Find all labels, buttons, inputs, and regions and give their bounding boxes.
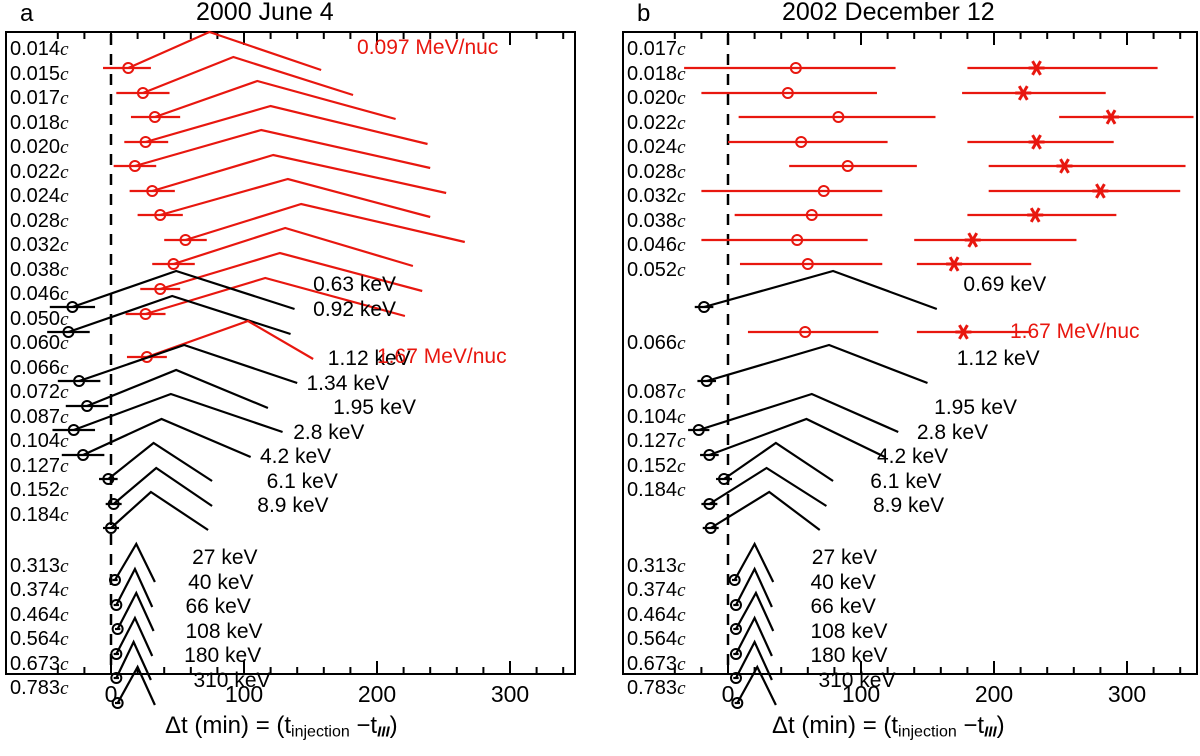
energy-label: 6.1 keV	[267, 470, 338, 493]
speed-label: 0.052c	[627, 259, 686, 281]
speed-label-unit: c	[60, 556, 69, 577]
energy-label: 27 keV	[192, 546, 257, 569]
energy-label: 66 keV	[810, 595, 875, 618]
speed-label: 0.038c	[627, 210, 686, 232]
speed-label-unit: c	[60, 654, 69, 675]
speed-label-unit: c	[677, 556, 686, 577]
profile-tent-line	[704, 271, 937, 309]
speed-label: 0.066c	[10, 357, 69, 379]
energy-label: 310 keV	[818, 669, 895, 692]
profile-tent-line	[737, 667, 776, 705]
speed-label-unit: c	[60, 186, 69, 207]
speed-label-unit: c	[677, 678, 686, 699]
speed-label: 0.017c	[627, 38, 686, 60]
axis-caption-suffix: )	[997, 712, 1005, 739]
energy-label: 1.95 keV	[934, 396, 1017, 419]
energy-label: 310 keV	[193, 669, 270, 692]
speed-label: 0.017c	[10, 87, 69, 109]
speed-label: 0.032c	[10, 234, 69, 256]
speed-label-unit: c	[60, 211, 69, 232]
speed-label-unit: c	[677, 235, 686, 256]
panel-b-axis-caption: Δt (min) = (tinjection −tIII)	[772, 712, 1005, 742]
panel-b-title: 2002 December 12	[782, 0, 995, 25]
panel-b: b 2002 December 12 01002003000.017c0.018…	[617, 0, 1200, 756]
speed-label: 0.313c	[10, 555, 69, 577]
speed-label-unit: c	[677, 64, 686, 85]
speed-label: 0.184c	[10, 504, 69, 526]
x-tick-label: 200	[975, 681, 1013, 707]
speed-label-unit: c	[60, 382, 69, 403]
speed-label: 0.087c	[10, 406, 69, 428]
speed-label-unit: c	[60, 235, 69, 256]
speed-label-unit: c	[60, 629, 69, 650]
profile-tent-line	[116, 569, 152, 607]
energy-label: 2.8 keV	[293, 421, 364, 444]
profile-tent-line	[736, 618, 772, 656]
speed-label-unit: c	[677, 39, 686, 60]
speed-label: 0.783c	[627, 677, 686, 699]
speed-label-unit: c	[60, 284, 69, 305]
speed-label: 0.014c	[10, 38, 69, 60]
panel-a-letter: a	[20, 2, 33, 26]
speed-label: 0.104c	[10, 430, 69, 452]
speed-label-unit: c	[677, 333, 686, 354]
speed-label: 0.673c	[10, 653, 69, 675]
x-tick-label: 300	[491, 681, 529, 707]
profile-tent-line	[147, 321, 313, 359]
profile-tent-line	[111, 492, 208, 530]
panel-b-plot: 01002003000.017c0.018c0.020c0.022c0.024c…	[617, 26, 1200, 726]
speed-label-unit: c	[60, 407, 69, 428]
speed-label: 0.564c	[627, 628, 686, 650]
speed-label: 0.152c	[627, 455, 686, 477]
speed-label-unit: c	[60, 431, 69, 452]
speed-label: 0.374c	[10, 579, 69, 601]
profile-tent-line	[128, 32, 321, 70]
speed-label-unit: c	[60, 605, 69, 626]
speed-label: 0.087c	[627, 381, 686, 403]
speed-label: 0.028c	[627, 161, 686, 183]
data-row	[748, 325, 1031, 339]
speed-label-unit: c	[60, 39, 69, 60]
speed-label: 0.313c	[627, 555, 686, 577]
speed-label: 0.046c	[627, 234, 686, 256]
energy-label: 4.2 keV	[260, 445, 331, 468]
data-row: 0.024c	[10, 179, 430, 220]
speed-label: 0.673c	[627, 653, 686, 675]
profile-tent-line	[87, 370, 268, 408]
profile-tent-line	[160, 179, 430, 217]
profile-tent-line	[108, 443, 212, 481]
energy-label: 40 keV	[810, 571, 875, 594]
mev-annotation: 1.67 MeV/nuc	[377, 345, 507, 368]
axis-caption-prefix: Δt (min) = (t	[772, 712, 898, 739]
profile-tent-line	[68, 296, 290, 334]
speed-label: 0.464c	[10, 604, 69, 626]
speed-label-unit: c	[60, 137, 69, 158]
profile-tent-line	[116, 618, 152, 656]
speed-label: 0.018c	[627, 63, 686, 85]
energy-label: 4.2 keV	[877, 445, 948, 468]
x-tick-label: 300	[1108, 681, 1146, 707]
energy-label: 1.34 keV	[307, 372, 390, 395]
speed-label: 0.104c	[627, 406, 686, 428]
speed-label: 0.127c	[627, 430, 686, 452]
energy-label: 1.12 keV	[957, 347, 1040, 370]
panel-a: a 2000 June 4 01002003000.014c0.015c0.01…	[0, 0, 600, 756]
plot-frame	[623, 32, 1197, 674]
speed-label-unit: c	[677, 113, 686, 134]
profile-tent-line	[146, 106, 428, 144]
axis-caption-sub2: III	[377, 723, 390, 740]
energy-label: 27 keV	[812, 546, 877, 569]
speed-label: 0.015c	[10, 63, 69, 85]
profile-tent-line	[185, 204, 464, 242]
data-row: 0.017c	[627, 38, 1158, 75]
axis-caption-sub1: injection	[898, 724, 957, 741]
speed-label: 0.038c	[10, 259, 69, 281]
speed-label: 0.152c	[10, 479, 69, 501]
speed-label-unit: c	[60, 162, 69, 183]
energy-label: 6.1 keV	[870, 470, 941, 493]
speed-label: 0.020c	[627, 87, 686, 109]
speed-label: 0.783c	[10, 677, 69, 699]
energy-label: 180 keV	[810, 644, 887, 667]
axis-caption-mid: −t	[350, 712, 377, 739]
speed-label: 0.024c	[10, 185, 69, 207]
energy-label: 0.92 keV	[313, 298, 396, 321]
speed-label: 0.046c	[10, 283, 69, 305]
profile-tent-line	[115, 544, 155, 582]
axis-caption-sub2: III	[984, 723, 997, 740]
speed-label: 0.072c	[10, 381, 69, 403]
speed-label-unit: c	[60, 580, 69, 601]
speed-label: 0.060c	[10, 332, 69, 354]
profile-tent-line	[143, 57, 353, 95]
speed-label: 0.464c	[627, 604, 686, 626]
speed-label-unit: c	[677, 654, 686, 675]
data-row: 0.066c1.12 keV	[627, 332, 1040, 386]
profile-tent-line	[707, 345, 928, 383]
speed-label-unit: c	[60, 678, 69, 699]
speed-label-unit: c	[60, 480, 69, 501]
speed-label: 0.066c	[627, 332, 686, 354]
panel-a-plot: 01002003000.014c0.015c0.017c0.018c0.020c…	[0, 26, 600, 726]
speed-label: 0.028c	[10, 210, 69, 232]
speed-label-unit: c	[677, 605, 686, 626]
speed-label-unit: c	[60, 88, 69, 109]
profile-tent-line	[709, 419, 885, 457]
x-tick-label: 200	[358, 681, 396, 707]
speed-label-unit: c	[677, 456, 686, 477]
speed-label-unit: c	[677, 186, 686, 207]
speed-label-unit: c	[677, 480, 686, 501]
speed-label: 0.032c	[627, 185, 686, 207]
mev-annotation: 1.67 MeV/nuc	[1010, 320, 1140, 343]
speed-label-unit: c	[677, 629, 686, 650]
energy-label: 2.8 keV	[917, 421, 988, 444]
speed-label-unit: c	[60, 113, 69, 134]
axis-caption-suffix: )	[390, 712, 398, 739]
speed-label: 0.564c	[10, 628, 69, 650]
data-row: 0.022c	[10, 155, 446, 196]
energy-label: 108 keV	[185, 620, 262, 643]
speed-label: 0.018c	[10, 112, 69, 134]
data-row: 0.028c	[10, 204, 465, 245]
energy-label: 0.63 keV	[313, 273, 396, 296]
speed-label: 0.374c	[627, 579, 686, 601]
speed-label: 0.050c	[10, 308, 69, 330]
speed-label: 0.024c	[627, 136, 686, 158]
energy-label: 180 keV	[184, 644, 261, 667]
energy-label: 0.69 keV	[963, 273, 1046, 296]
speed-label-unit: c	[677, 382, 686, 403]
speed-label-unit: c	[677, 162, 686, 183]
energy-label: 66 keV	[185, 595, 250, 618]
energy-label: 108 keV	[810, 620, 887, 643]
profile-tent-line	[135, 130, 430, 168]
energy-label: 8.9 keV	[257, 494, 328, 517]
data-row: 0.052c0.69 keV	[627, 259, 1046, 312]
panel-b-letter: b	[637, 2, 650, 26]
profile-tent-line	[155, 81, 396, 119]
panel-a-title: 2000 June 4	[196, 0, 334, 25]
speed-label: 0.022c	[627, 112, 686, 134]
speed-label-unit: c	[677, 431, 686, 452]
profile-tent-line	[736, 569, 772, 607]
speed-label: 0.020c	[10, 136, 69, 158]
speed-label-unit: c	[677, 580, 686, 601]
axis-caption-prefix: Δt (min) = (t	[165, 712, 291, 739]
speed-label: 0.184c	[627, 479, 686, 501]
data-row: 0.018c	[10, 106, 428, 147]
data-row: 0.020c	[10, 130, 430, 171]
speed-label-unit: c	[677, 137, 686, 158]
speed-label: 0.022c	[10, 161, 69, 183]
speed-label-unit: c	[60, 456, 69, 477]
mev-annotation: 0.097 MeV/nuc	[357, 36, 498, 59]
axis-caption-mid: −t	[957, 712, 984, 739]
speed-label-unit: c	[677, 88, 686, 109]
data-row: 0.032c	[10, 228, 413, 269]
energy-label: 40 keV	[188, 571, 253, 594]
speed-label-unit: c	[60, 260, 69, 281]
energy-label: 8.9 keV	[873, 494, 944, 517]
speed-label-unit: c	[677, 407, 686, 428]
speed-label-unit: c	[60, 358, 69, 379]
speed-label-unit: c	[60, 64, 69, 85]
energy-label: 1.95 keV	[333, 396, 416, 419]
panel-a-axis-caption: Δt (min) = (tinjection −tIII)	[165, 712, 398, 742]
speed-label-unit: c	[60, 505, 69, 526]
figure-root: a 2000 June 4 01002003000.014c0.015c0.01…	[0, 0, 1200, 756]
speed-label-unit: c	[677, 211, 686, 232]
profile-tent-line	[735, 544, 774, 582]
speed-label: 0.127c	[10, 455, 69, 477]
profile-tent-line	[118, 667, 155, 705]
speed-label-unit: c	[677, 260, 686, 281]
axis-caption-sub1: injection	[291, 724, 350, 741]
